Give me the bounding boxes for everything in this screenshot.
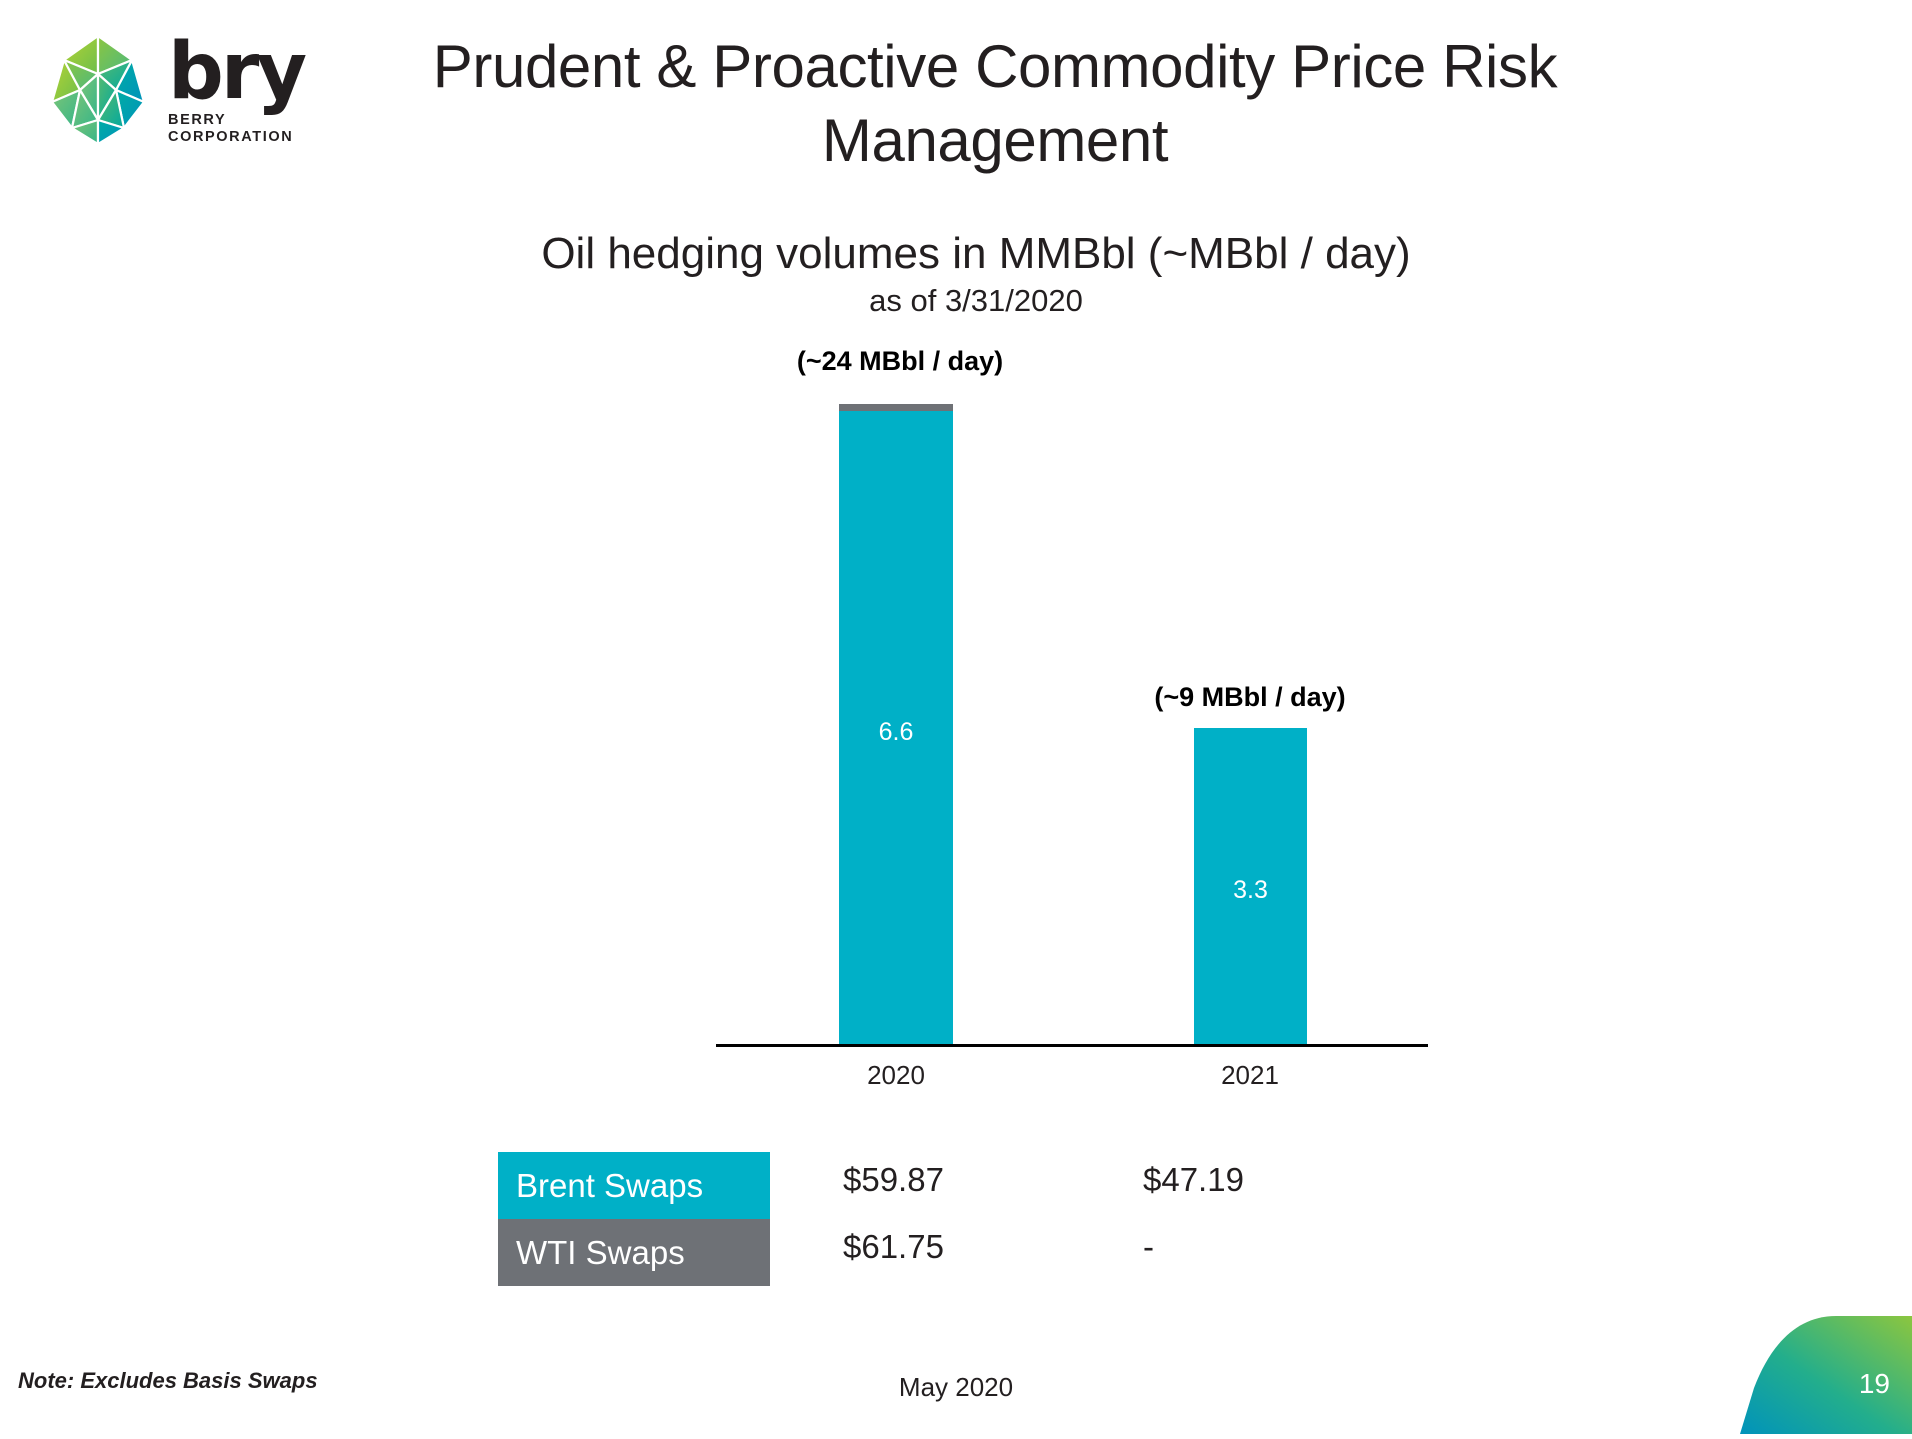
table-row: WTI Swaps $61.75 - <box>498 1219 1418 1286</box>
bar-value-label-2021: 3.3 <box>1194 876 1307 905</box>
footer-date: May 2020 <box>0 1372 1912 1403</box>
legend-value-brent-2021: $47.19 <box>1143 1161 1244 1199</box>
legend-value-wti-2021: - <box>1143 1228 1154 1266</box>
bar-value-label-2020: 6.6 <box>839 718 953 747</box>
axis-tick-label-2020: 2020 <box>796 1060 996 1091</box>
legend-label-brent-swaps: Brent Swaps <box>498 1167 703 1205</box>
page-number: 19 <box>1859 1368 1890 1400</box>
swaps-legend-table: Brent Swaps $59.87 $47.19 WTI Swaps $61.… <box>498 1152 1418 1286</box>
legend-value-brent-2020: $59.87 <box>843 1161 944 1199</box>
legend-label-wti-swaps: WTI Swaps <box>498 1234 685 1272</box>
legend-swatch-wti-swaps: WTI Swaps <box>498 1219 770 1286</box>
bar-cap-2020 <box>839 404 953 411</box>
legend-value-wti-2020: $61.75 <box>843 1228 944 1266</box>
chart-axis-line <box>716 1044 1428 1047</box>
bar-annotation-2020: (~24 MBbl / day) <box>740 346 1060 377</box>
table-row: Brent Swaps $59.87 $47.19 <box>498 1152 1418 1219</box>
bar-annotation-2021: (~9 MBbl / day) <box>1090 682 1410 713</box>
axis-tick-label-2021: 2021 <box>1150 1060 1350 1091</box>
legend-swatch-brent-swaps: Brent Swaps <box>498 1152 770 1219</box>
